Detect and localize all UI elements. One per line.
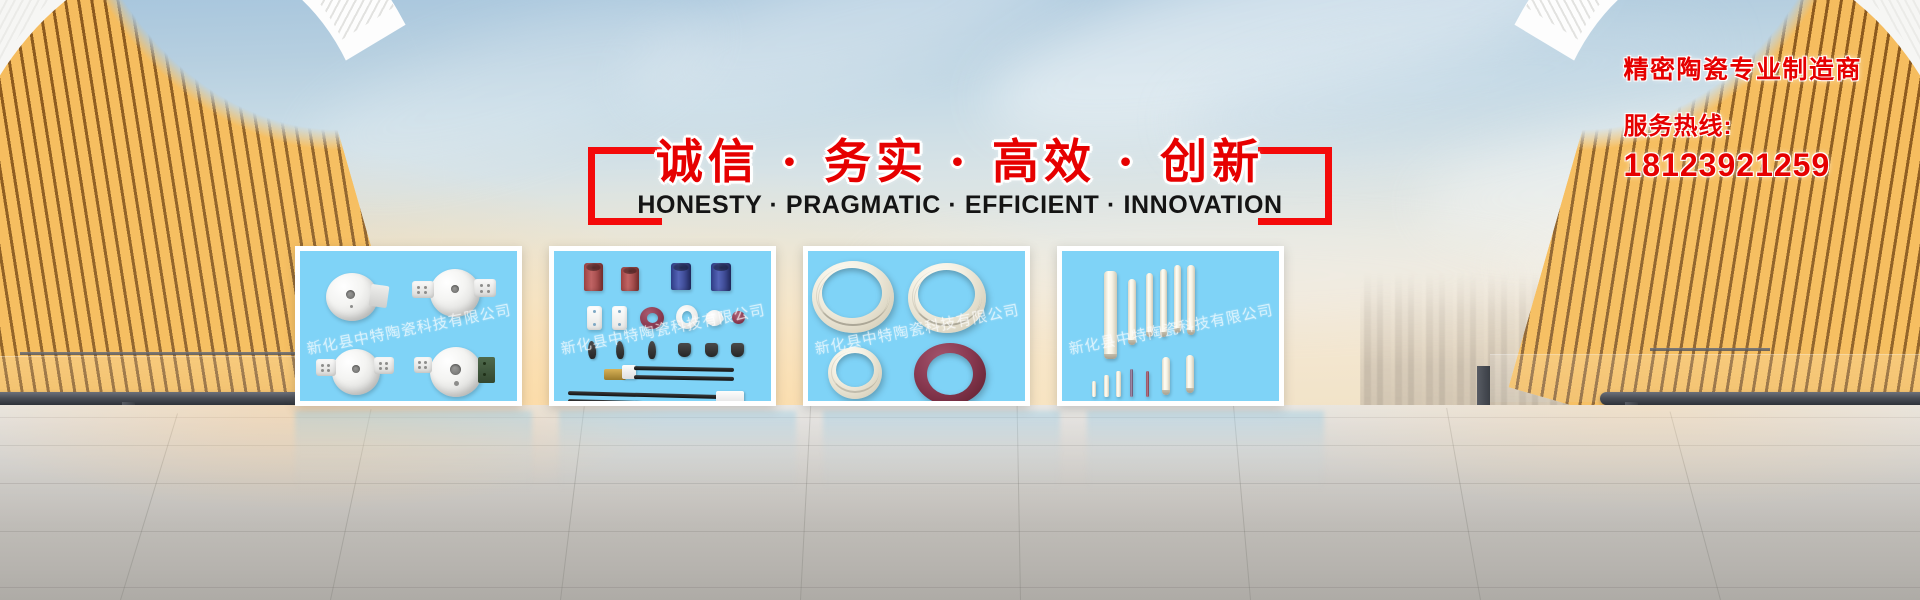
- panel-content: [808, 251, 1025, 401]
- panel-content: [554, 251, 771, 401]
- slogan-chinese: 诚信 · 务实 · 高效 · 创新: [560, 123, 1360, 192]
- ceramic-plate: [587, 306, 602, 330]
- metal-clip: [587, 341, 596, 360]
- ceramic-rod-small: [1104, 375, 1109, 397]
- lamp-holder-tab: [414, 357, 432, 373]
- wire-assembly-connector: [566, 391, 756, 406]
- ceramic-ring-small: [828, 347, 882, 399]
- floor-sunset-glow: [0, 405, 1920, 600]
- contact-block: 精密陶瓷专业制造商 服务热线: 18123921259: [1623, 50, 1862, 184]
- ceramic-rod-small: [1116, 371, 1121, 397]
- ceramic-rod: [1174, 265, 1181, 333]
- reflective-floor: [0, 405, 1920, 600]
- ceramic-rod-medium: [1186, 355, 1194, 393]
- metal-clip: [616, 341, 625, 359]
- panel-content: [300, 251, 517, 401]
- banner-stage: 诚信 · 务实 · 高效 · 创新 HONESTY · PRAGMATIC · …: [0, 0, 1920, 600]
- slogan-english: HONESTY · PRAGMATIC · EFFICIENT · INNOVA…: [560, 191, 1360, 220]
- lamp-holder-tab: [374, 357, 394, 374]
- metal-clip: [648, 341, 656, 359]
- ceramic-rod-red: [1146, 371, 1149, 397]
- product-panel-ceramic-rings[interactable]: 新化县中特陶瓷科技有限公司: [803, 246, 1030, 406]
- ceramic-disc-maroon: [732, 311, 745, 324]
- ceramic-disc-white: [706, 310, 723, 326]
- ceramic-rod-purple: [1130, 369, 1133, 397]
- ceramic-tube-red: [584, 263, 603, 291]
- ceramic-plate: [612, 306, 627, 330]
- ceramic-ring-maroon: [640, 307, 664, 329]
- wire-assembly-gold: [604, 363, 734, 383]
- product-panel-row: 新化县中特陶瓷科技有限公司: [295, 246, 1575, 406]
- lamp-holder-tab: [316, 359, 336, 376]
- ceramic-rod: [1187, 265, 1195, 335]
- ceramic-tube-red: [621, 267, 639, 291]
- ceramic-rod: [1104, 271, 1117, 359]
- lamp-holder: [430, 269, 480, 317]
- ceramic-ring-large: [812, 261, 894, 333]
- ceramic-ring-white: [676, 305, 698, 329]
- lamp-holder-terminal: [478, 357, 495, 383]
- hotline-label: 服务热线:: [1623, 106, 1862, 141]
- company-tagline: 精密陶瓷专业制造商: [1623, 50, 1862, 86]
- ceramic-ring-maroon-large: [914, 343, 986, 405]
- ceramic-tube-blue: [711, 263, 731, 291]
- lamp-holder-tab: [474, 279, 496, 297]
- lamp-holder-tab: [412, 281, 434, 298]
- hotline-number[interactable]: 18123921259: [1623, 147, 1862, 184]
- ceramic-rod-small: [1092, 381, 1096, 397]
- product-panel-ceramic-lamp-holders[interactable]: 新化县中特陶瓷科技有限公司: [295, 246, 522, 406]
- lamp-holder-stub: [369, 284, 390, 308]
- ceramic-rod: [1128, 279, 1136, 345]
- metal-clip: [705, 343, 718, 357]
- panel-content: [1062, 251, 1279, 401]
- product-panel-ceramic-rods[interactable]: 新化县中特陶瓷科技有限公司: [1057, 246, 1284, 406]
- ceramic-rod-medium: [1162, 357, 1170, 395]
- lamp-holder: [332, 349, 380, 395]
- slogan-block: 诚信 · 务实 · 高效 · 创新 HONESTY · PRAGMATIC · …: [560, 95, 1360, 245]
- metal-clip: [678, 343, 691, 357]
- product-panel-ceramic-components[interactable]: 新化县中特陶瓷科技有限公司: [549, 246, 776, 406]
- ceramic-rod: [1146, 273, 1153, 337]
- ceramic-rod: [1160, 269, 1167, 337]
- ceramic-tube-blue: [671, 263, 691, 290]
- lamp-holder: [430, 347, 482, 397]
- ceramic-ring-large: [908, 263, 986, 333]
- metal-clip: [731, 343, 744, 357]
